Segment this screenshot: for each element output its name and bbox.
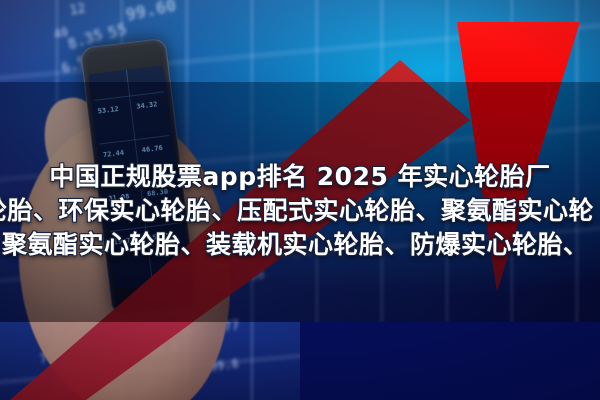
caption-line-1: 中国正规股票app排名 2025 年实心轮胎厂	[0, 160, 600, 194]
caption-line-2: 轮胎、环保实心轮胎、压配式实心轮胎、聚氨酯实心轮	[0, 194, 600, 228]
banner-image: 99.60558.3512406.53.279.41.007755.699.87…	[0, 0, 600, 400]
caption-line-3: 聚氨酯实心轮胎、装载机实心轮胎、防爆实心轮胎、	[2, 228, 600, 262]
caption-block: 中国正规股票app排名 2025 年实心轮胎厂 轮胎、环保实心轮胎、压配式实心轮…	[0, 160, 600, 262]
